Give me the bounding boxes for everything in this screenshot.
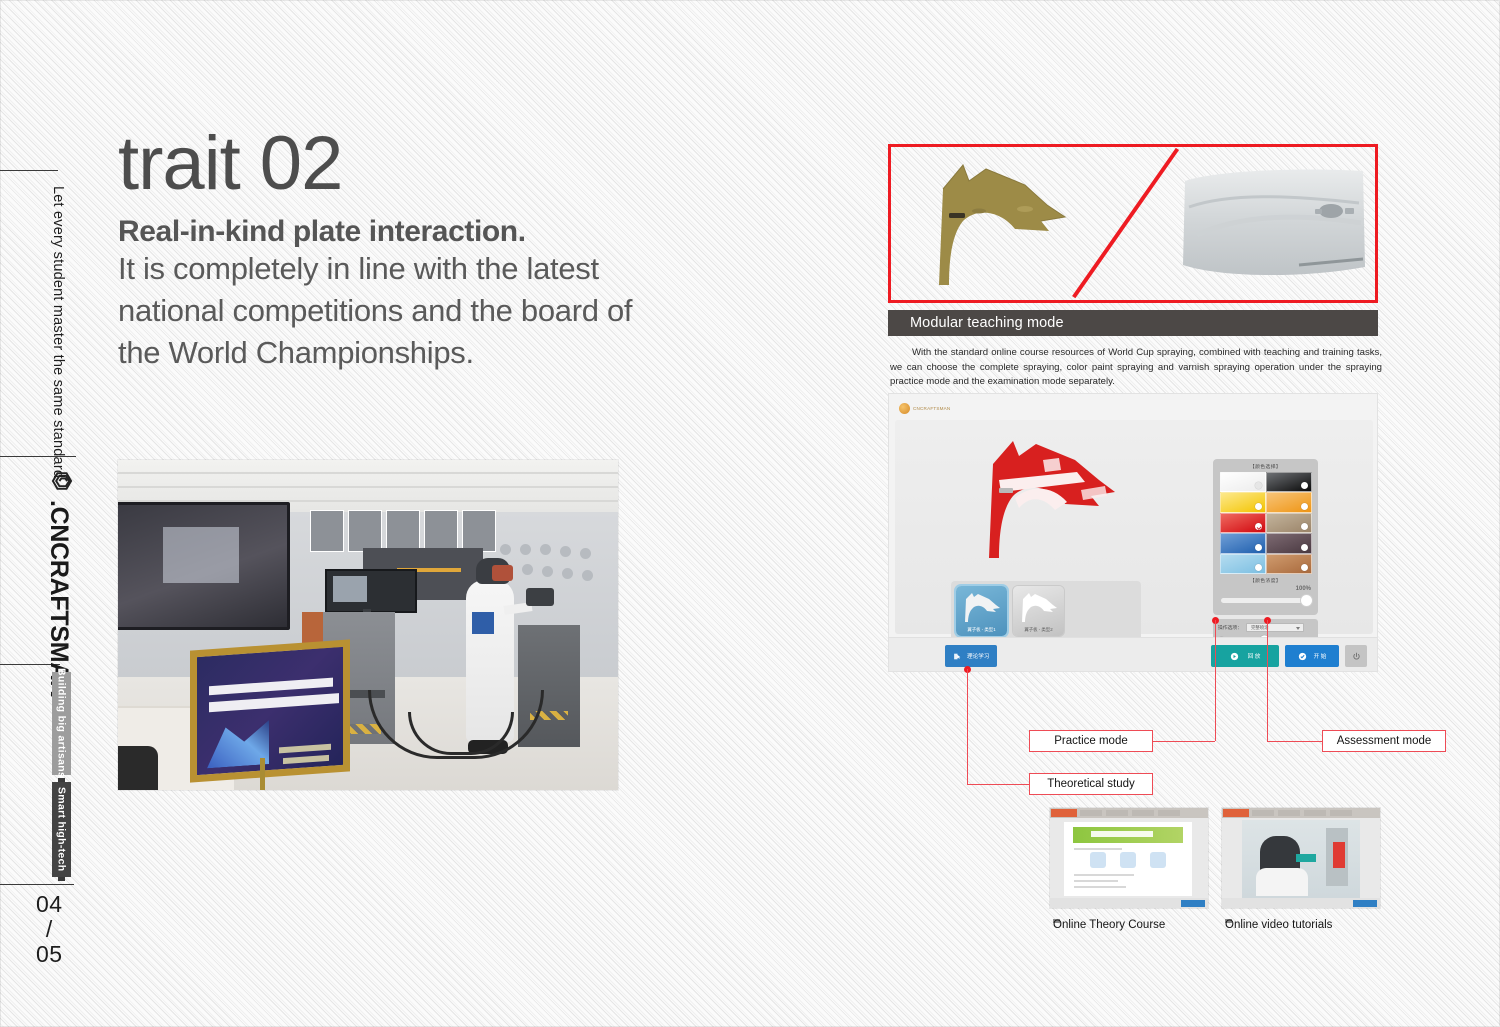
check-circle-icon: [1298, 652, 1307, 661]
callout-line-assessment-h: [1267, 741, 1322, 742]
course-slide: [1064, 822, 1192, 896]
operation-mode-select[interactable]: 完整喷涂: [1246, 623, 1304, 632]
callout-line-theory-h: [967, 784, 1029, 785]
theory-study-button[interactable]: 理论学习: [945, 645, 997, 667]
tutorial-video-frame: [1242, 820, 1360, 898]
part-thumbnail-2-label: 翼子板 - 类型2: [1024, 627, 1052, 636]
browser-viewport-1: [1050, 818, 1208, 908]
power-button[interactable]: [1345, 645, 1367, 667]
callout-theoretical-study: Theoretical study: [1029, 773, 1153, 795]
color-palette-title: 【颜色选择】: [1213, 459, 1318, 470]
color-swatch-red[interactable]: [1220, 513, 1266, 533]
callout-assessment-mode: Assessment mode: [1322, 730, 1446, 752]
color-swatch-blue[interactable]: [1220, 533, 1266, 553]
part-thumbnail-strip: 翼子板 - 类型1 翼子板 - 类型2: [951, 581, 1141, 641]
opacity-title: 【颜色浓度】: [1213, 577, 1318, 584]
photo-competition-signboard: [190, 639, 350, 782]
power-icon: [1352, 652, 1361, 661]
replay-button[interactable]: 回 放: [1211, 645, 1279, 667]
color-swatch-black[interactable]: [1266, 472, 1312, 492]
page-number: 04 / 05: [36, 892, 63, 966]
start-button[interactable]: 开 始: [1285, 645, 1339, 667]
browser-statusbar-2: [1222, 898, 1380, 908]
color-swatch-light-blue[interactable]: [1220, 554, 1266, 574]
course-slide-banner: [1073, 827, 1183, 843]
browser-viewport-2: [1222, 818, 1380, 908]
app-logo: CNCRAFTSMAN: [899, 401, 957, 415]
browser-tabbar-1: [1050, 808, 1208, 818]
start-label: 开 始: [1314, 652, 1327, 660]
opacity-slider[interactable]: [1221, 598, 1311, 603]
chip-cap-bottom-dark: [58, 877, 65, 881]
part-thumbnail-2[interactable]: 翼子板 - 类型2: [1013, 586, 1064, 636]
browser-statusbar-1: [1050, 898, 1208, 908]
headline-block: trait 02 Real-in-kind plate interaction.…: [118, 128, 678, 374]
rail-divider-1: [0, 170, 58, 171]
theory-study-label: 理论学习: [967, 652, 989, 660]
book-cursor-icon: [953, 652, 962, 661]
headline-body: It is completely in line with the latest…: [118, 248, 678, 374]
callout-line-assessment-v: [1267, 620, 1268, 741]
opacity-value: 100%: [1296, 586, 1311, 592]
color-swatch-yellow[interactable]: [1220, 492, 1266, 512]
callout-practice-mode: Practice mode: [1029, 730, 1153, 752]
callout-line-theory-v: [967, 669, 968, 784]
photo-spray-gun: [526, 588, 554, 606]
photo-signboard-leg: [260, 758, 265, 790]
photo-large-display: [118, 502, 290, 630]
rail-divider-4: [0, 884, 74, 885]
online-video-tutorials-thumbnail: [1222, 808, 1380, 908]
car-door-panel: [1179, 167, 1369, 285]
color-swatch-dark-brown[interactable]: [1266, 533, 1312, 553]
left-rail: Let every student master the same standa…: [0, 0, 104, 1027]
car-fender-panel: [929, 159, 1079, 291]
online-theory-course-thumbnail: [1050, 808, 1208, 908]
rail-chip-smart-high-tech: Smart high-tech: [52, 782, 71, 877]
part-thumbnail-1-label: 翼子板 - 类型1: [967, 627, 995, 636]
page-title: trait 02: [118, 128, 678, 200]
part-thumbnail-1[interactable]: 翼子板 - 类型1: [956, 586, 1007, 636]
browser-tabbar-2: [1222, 808, 1380, 818]
page-number-total: 05: [36, 942, 63, 967]
spray-simulator-app-screenshot: CNCRAFTSMAN 翼子板 - 类型1: [888, 393, 1378, 672]
cncraftsman-logo-icon: [49, 468, 75, 494]
page-number-separator: /: [36, 917, 63, 942]
sprayed-fender-red: [981, 436, 1131, 561]
photo-monitor: [325, 569, 417, 613]
app-logo-text: CNCRAFTSMAN: [913, 406, 950, 411]
rail-tagline: Let every student master the same standa…: [50, 186, 66, 478]
fender-silhouette-icon: [963, 592, 1001, 622]
app-stage: 翼子板 - 类型1 翼子板 - 类型2 【颜色选择】: [895, 420, 1373, 634]
operation-mode-label: 操作选项：: [1218, 624, 1242, 631]
section-title: Modular teaching mode: [888, 315, 1064, 331]
video-caption-1: Online Theory Course: [1053, 919, 1165, 931]
section-paragraph: With the standard online course resource…: [890, 346, 1382, 390]
color-palette-panel: 【颜色选择】 【颜色浓度】 100%: [1213, 459, 1318, 615]
color-swatch-white[interactable]: [1220, 472, 1266, 492]
callout-line-practice-v: [1215, 620, 1216, 741]
fender-silhouette-icon-2: [1020, 592, 1058, 622]
photo-bag: [118, 746, 158, 790]
section-title-bar: Modular teaching mode: [888, 310, 1378, 336]
headline-subtitle: Real-in-kind plate interaction.: [118, 216, 678, 248]
video-caption-2: Online video tutorials: [1225, 919, 1332, 931]
color-swatch-orange[interactable]: [1266, 492, 1312, 512]
spray-training-classroom-photo: [118, 460, 618, 790]
parts-showcase-frame: [888, 144, 1378, 303]
replay-label: 回 放: [1248, 652, 1261, 660]
app-logo-mark-icon: [899, 403, 910, 414]
color-swatch-grid: [1220, 472, 1312, 574]
replay-circle-icon: [1230, 652, 1239, 661]
page-number-current: 04: [36, 892, 63, 917]
opacity-slider-knob[interactable]: [1301, 595, 1312, 606]
callout-line-practice-h: [1153, 741, 1215, 742]
rail-chip-building-big-artisans: Building big artisans: [52, 672, 71, 775]
color-swatch-brown[interactable]: [1266, 554, 1312, 574]
app-toolbar: 理论学习 回 放 开 始: [889, 637, 1377, 672]
color-swatch-tan[interactable]: [1266, 513, 1312, 533]
